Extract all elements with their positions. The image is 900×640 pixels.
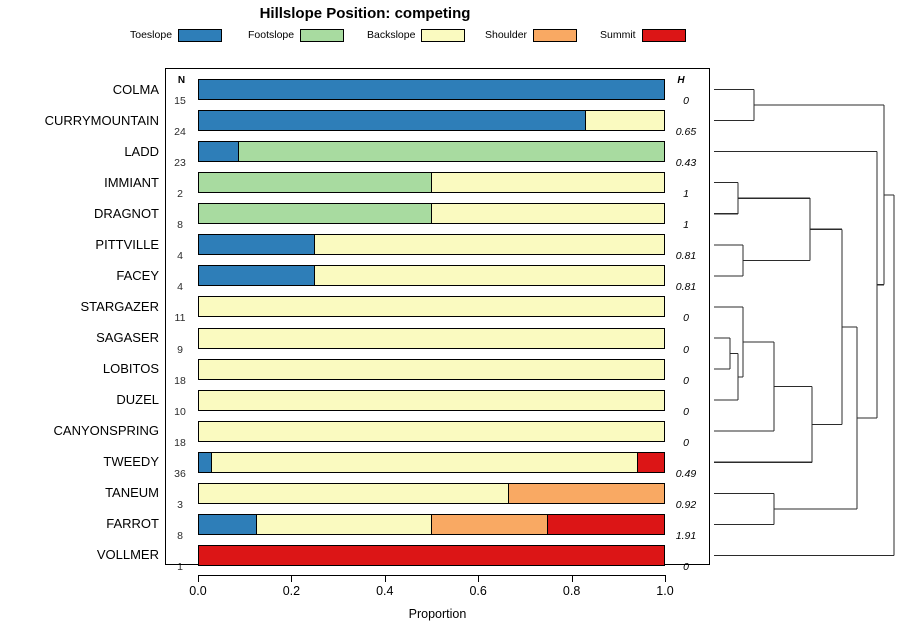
dendrogram-tree: [712, 68, 900, 565]
bar-segment-toeslope[interactable]: [199, 80, 664, 99]
stacked-bar-sagaser[interactable]: [198, 328, 665, 349]
h-value-ladd: 0.43: [666, 157, 706, 169]
category-axis-labels: COLMACURRYMOUNTAINLADDIMMIANTDRAGNOTPITT…: [0, 68, 159, 565]
x-axis-tick-label: 0.0: [178, 584, 218, 598]
bar-segment-toeslope[interactable]: [199, 453, 212, 472]
h-value-colma: 0: [666, 95, 706, 107]
stacked-bar-currymountain[interactable]: [198, 110, 665, 131]
legend-item-label: Shoulder: [485, 29, 527, 41]
x-axis-tick-label: 1.0: [645, 584, 685, 598]
stacked-bar-dragnot[interactable]: [198, 203, 665, 224]
x-axis-tick: [198, 575, 199, 582]
stacked-bar-stargazer[interactable]: [198, 296, 665, 317]
bar-segment-toeslope[interactable]: [199, 142, 239, 161]
category-label-taneum: TANEUM: [105, 486, 159, 500]
x-axis-tick: [572, 575, 573, 582]
bar-segment-toeslope[interactable]: [199, 111, 586, 130]
bar-segment-backslope[interactable]: [432, 173, 665, 192]
bar-segment-summit[interactable]: [548, 515, 664, 534]
stacked-bar-facey[interactable]: [198, 265, 665, 286]
category-label-facey: FACEY: [116, 269, 159, 283]
h-value-stargazer: 0: [666, 312, 706, 324]
legend-item-shoulder[interactable]: Shoulder: [485, 26, 577, 44]
category-label-pittville: PITTVILLE: [95, 238, 159, 252]
category-label-ladd: LADD: [124, 145, 159, 159]
bar-segment-backslope[interactable]: [257, 515, 431, 534]
bar-segment-backslope[interactable]: [212, 453, 638, 472]
bar-segment-backslope[interactable]: [199, 329, 664, 348]
bar-segment-backslope[interactable]: [315, 235, 664, 254]
legend-item-backslope[interactable]: Backslope: [367, 26, 465, 44]
x-axis-line: [198, 575, 665, 576]
page-title: Hillslope Position: competing: [0, 5, 730, 22]
bar-segment-shoulder[interactable]: [509, 484, 664, 503]
category-label-duzel: DUZEL: [116, 393, 159, 407]
category-label-vollmer: VOLLMER: [97, 548, 159, 562]
bar-segment-toeslope[interactable]: [199, 515, 257, 534]
bar-segment-backslope[interactable]: [315, 266, 664, 285]
stacked-bar-vollmer[interactable]: [198, 545, 665, 566]
h-value-taneum: 0.92: [666, 499, 706, 511]
category-label-immiant: IMMIANT: [104, 176, 159, 190]
bar-segment-summit[interactable]: [199, 546, 664, 565]
stacked-bar-canyonspring[interactable]: [198, 421, 665, 442]
bar-segment-shoulder[interactable]: [432, 515, 548, 534]
legend-swatch-backslope: [421, 29, 465, 42]
stacked-bar-ladd[interactable]: [198, 141, 665, 162]
bar-segment-toeslope[interactable]: [199, 235, 315, 254]
bar-segment-toeslope[interactable]: [199, 266, 315, 285]
legend-item-label: Summit: [600, 29, 636, 41]
bar-segment-backslope[interactable]: [432, 204, 665, 223]
bar-segment-backslope[interactable]: [199, 297, 664, 316]
h-column-header: H: [666, 75, 696, 86]
legend-swatch-toeslope: [178, 29, 222, 42]
bar-segment-backslope[interactable]: [199, 484, 509, 503]
stacked-bar-pittville[interactable]: [198, 234, 665, 255]
x-axis-tick: [291, 575, 292, 582]
category-label-canyonspring: CANYONSPRING: [54, 424, 159, 438]
h-value-lobitos: 0: [666, 375, 706, 387]
h-value-sagaser: 0: [666, 344, 706, 356]
bar-segment-footslope[interactable]: [199, 204, 432, 223]
h-value-pittville: 0.81: [666, 250, 706, 262]
bar-segment-footslope[interactable]: [239, 142, 664, 161]
bar-segment-backslope[interactable]: [199, 360, 664, 379]
x-axis-tick: [665, 575, 666, 582]
bar-segment-summit[interactable]: [638, 453, 664, 472]
h-value-immiant: 1: [666, 188, 706, 200]
category-label-colma: COLMA: [113, 83, 159, 97]
legend-swatch-shoulder: [533, 29, 577, 42]
h-value-tweedy: 0.49: [666, 468, 706, 480]
category-label-farrot: FARROT: [106, 517, 159, 531]
stacked-bar-duzel[interactable]: [198, 390, 665, 411]
h-value-canyonspring: 0: [666, 437, 706, 449]
category-label-sagaser: SAGASER: [96, 331, 159, 345]
stacked-bar-farrot[interactable]: [198, 514, 665, 535]
stacked-bar-colma[interactable]: [198, 79, 665, 100]
legend-item-toeslope[interactable]: Toeslope: [130, 26, 222, 44]
h-value-facey: 0.81: [666, 281, 706, 293]
bar-segment-backslope[interactable]: [199, 422, 664, 441]
legend-item-label: Footslope: [248, 29, 294, 41]
x-axis-title: Proportion: [165, 607, 710, 621]
bar-segment-backslope[interactable]: [586, 111, 664, 130]
category-label-currymountain: CURRYMOUNTAIN: [45, 114, 159, 128]
stacked-bar-lobitos[interactable]: [198, 359, 665, 380]
legend: ToeslopeFootslopeBackslopeShoulderSummit: [130, 26, 730, 44]
category-label-tweedy: TWEEDY: [103, 455, 159, 469]
x-axis-tick-label: 0.2: [271, 584, 311, 598]
x-axis-tick: [478, 575, 479, 582]
x-axis-tick-label: 0.8: [552, 584, 592, 598]
legend-item-label: Backslope: [367, 29, 415, 41]
stacked-bar-immiant[interactable]: [198, 172, 665, 193]
category-label-stargazer: STARGAZER: [81, 300, 160, 314]
bar-segment-footslope[interactable]: [199, 173, 432, 192]
legend-swatch-summit: [642, 29, 686, 42]
category-label-lobitos: LOBITOS: [103, 362, 159, 376]
x-axis-tick: [385, 575, 386, 582]
legend-swatch-footslope: [300, 29, 344, 42]
legend-item-footslope[interactable]: Footslope: [248, 26, 344, 44]
dendrogram: [712, 68, 900, 565]
stacked-bar-group: [198, 68, 665, 565]
x-axis-tick-label: 0.6: [458, 584, 498, 598]
legend-item-summit[interactable]: Summit: [600, 26, 686, 44]
h-value-duzel: 0: [666, 406, 706, 418]
h-value-farrot: 1.91: [666, 530, 706, 542]
h-value-dragnot: 1: [666, 219, 706, 231]
x-axis: Proportion 0.00.20.40.60.81.0: [165, 565, 710, 625]
stacked-bar-tweedy[interactable]: [198, 452, 665, 473]
bar-segment-backslope[interactable]: [199, 391, 664, 410]
h-value-currymountain: 0.65: [666, 126, 706, 138]
x-axis-tick-label: 0.4: [365, 584, 405, 598]
stacked-bar-taneum[interactable]: [198, 483, 665, 504]
legend-item-label: Toeslope: [130, 29, 172, 41]
category-label-dragnot: DRAGNOT: [94, 207, 159, 221]
h-column: H 00.650.43110.810.81000000.490.921.910: [666, 68, 710, 565]
